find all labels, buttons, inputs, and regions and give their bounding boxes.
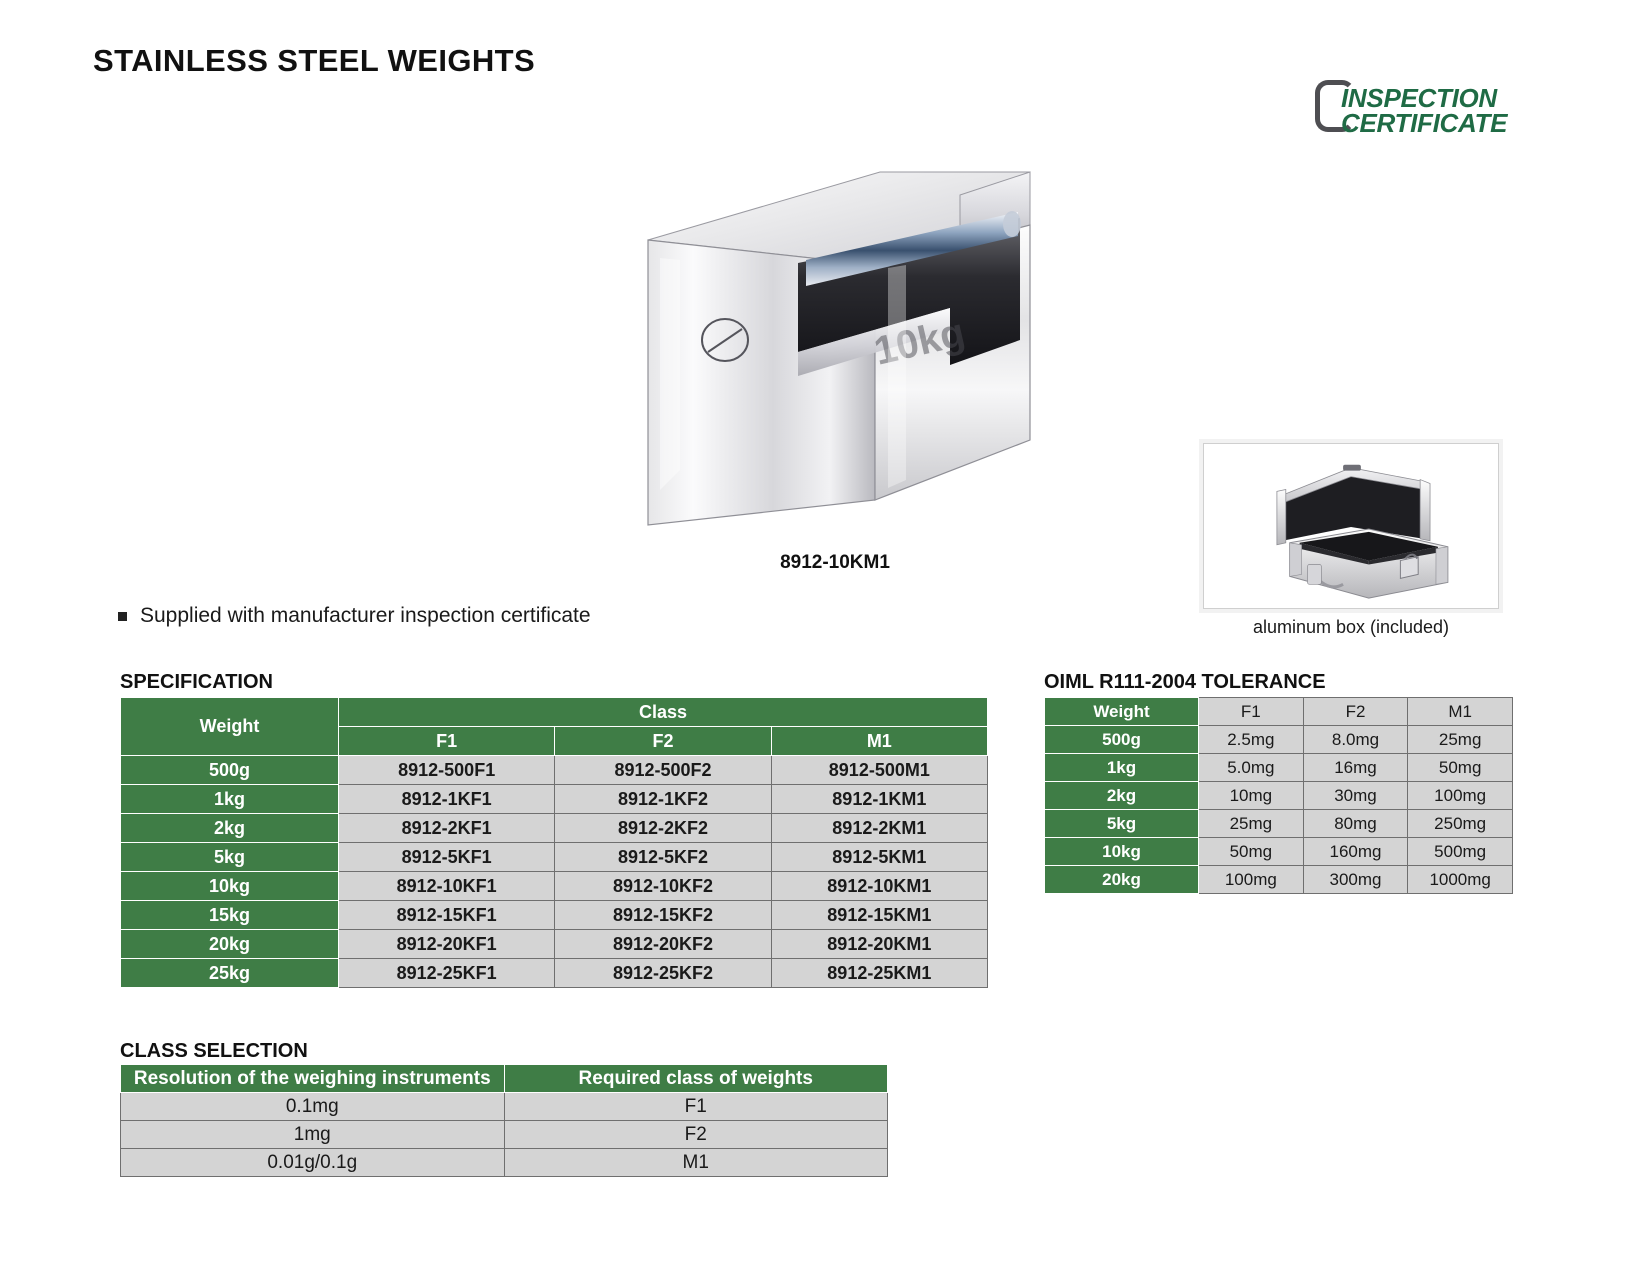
spec-weight: 5kg <box>121 843 339 872</box>
spec-f1: 8912-5KF1 <box>339 843 555 872</box>
spec-header-f2: F2 <box>555 727 771 756</box>
feature-bullet-text: Supplied with manufacturer inspection ce… <box>140 604 591 628</box>
spec-f2: 8912-15KF2 <box>555 901 771 930</box>
table-row: 0.01g/0.1g M1 <box>121 1149 888 1177</box>
bullet-square-icon <box>118 612 127 621</box>
spec-m1: 8912-1KM1 <box>771 785 987 814</box>
tol-weight: 500g <box>1045 726 1199 754</box>
spec-f1: 8912-10KF1 <box>339 872 555 901</box>
spec-header-weight: Weight <box>121 698 339 756</box>
aluminum-box-photo-frame <box>1203 443 1499 609</box>
table-row: 20kg 100mg 300mg 1000mg <box>1045 866 1513 894</box>
spec-f1: 8912-2KF1 <box>339 814 555 843</box>
spec-f2: 8912-500F2 <box>555 756 771 785</box>
spec-weight: 10kg <box>121 872 339 901</box>
spec-m1: 8912-500M1 <box>771 756 987 785</box>
spec-f2: 8912-10KF2 <box>555 872 771 901</box>
spec-header-class: Class <box>339 698 988 727</box>
tol-weight: 20kg <box>1045 866 1199 894</box>
tol-weight: 5kg <box>1045 810 1199 838</box>
class-required: F2 <box>504 1121 888 1149</box>
tol-m1: 100mg <box>1408 782 1513 810</box>
spec-f1: 8912-15KF1 <box>339 901 555 930</box>
table-row: 1kg 8912-1KF1 8912-1KF2 8912-1KM1 <box>121 785 988 814</box>
tol-f2: 30mg <box>1303 782 1408 810</box>
spec-f1: 8912-20KF1 <box>339 930 555 959</box>
tol-header-f2: F2 <box>1303 698 1408 726</box>
feature-bullet-list: Supplied with manufacturer inspection ce… <box>118 604 591 628</box>
tol-f1: 25mg <box>1199 810 1304 838</box>
table-row: 500g 2.5mg 8.0mg 25mg <box>1045 726 1513 754</box>
spec-m1: 8912-5KM1 <box>771 843 987 872</box>
table-row: 10kg 8912-10KF1 8912-10KF2 8912-10KM1 <box>121 872 988 901</box>
tolerance-table: Weight F1 F2 M1 500g 2.5mg 8.0mg 25mg 1k… <box>1044 697 1513 894</box>
tol-m1: 50mg <box>1408 754 1513 782</box>
table-row: 25kg 8912-25KF1 8912-25KF2 8912-25KM1 <box>121 959 988 988</box>
table-row: 500g 8912-500F1 8912-500F2 8912-500M1 <box>121 756 988 785</box>
tol-f2: 160mg <box>1303 838 1408 866</box>
aluminum-box-photo <box>1204 444 1498 608</box>
class-selection-table: Resolution of the weighing instruments R… <box>120 1064 888 1177</box>
spec-f1: 8912-1KF1 <box>339 785 555 814</box>
tol-header-m1: M1 <box>1408 698 1513 726</box>
inspection-certificate-logo: INSPECTION CERTIFICATE <box>1315 78 1505 140</box>
spec-header-m1: M1 <box>771 727 987 756</box>
logo-wordmark: INSPECTION CERTIFICATE <box>1341 86 1507 136</box>
spec-f1: 8912-500F1 <box>339 756 555 785</box>
tol-f2: 8.0mg <box>1303 726 1408 754</box>
spec-weight: 1kg <box>121 785 339 814</box>
spec-m1: 8912-15KM1 <box>771 901 987 930</box>
table-row: 20kg 8912-20KF1 8912-20KF2 8912-20KM1 <box>121 930 988 959</box>
aluminum-box-caption: aluminum box (included) <box>1203 617 1499 638</box>
tol-header-f1: F1 <box>1199 698 1304 726</box>
table-row: 5kg 8912-5KF1 8912-5KF2 8912-5KM1 <box>121 843 988 872</box>
spec-m1: 8912-25KM1 <box>771 959 987 988</box>
product-part-number: 8912-10KM1 <box>620 552 1050 574</box>
class-selection-caption: CLASS SELECTION <box>120 1040 308 1063</box>
spec-weight: 15kg <box>121 901 339 930</box>
class-required: F1 <box>504 1093 888 1121</box>
table-row: 0.1mg F1 <box>121 1093 888 1121</box>
tol-header-weight: Weight <box>1045 698 1199 726</box>
table-row: 1mg F2 <box>121 1121 888 1149</box>
class-resolution: 0.1mg <box>121 1093 505 1121</box>
spec-weight: 20kg <box>121 930 339 959</box>
tol-f1: 5.0mg <box>1199 754 1304 782</box>
tol-weight: 1kg <box>1045 754 1199 782</box>
tolerance-caption: OIML R111-2004 TOLERANCE <box>1044 671 1326 694</box>
tol-weight: 2kg <box>1045 782 1199 810</box>
specification-table: Weight Class F1 F2 M1 500g 8912-500F1 89… <box>120 697 988 988</box>
spec-m1: 8912-10KM1 <box>771 872 987 901</box>
spec-weight: 500g <box>121 756 339 785</box>
tol-weight: 10kg <box>1045 838 1199 866</box>
tol-f2: 80mg <box>1303 810 1408 838</box>
tol-f2: 300mg <box>1303 866 1408 894</box>
tol-m1: 25mg <box>1408 726 1513 754</box>
spec-f2: 8912-20KF2 <box>555 930 771 959</box>
page-title: STAINLESS STEEL WEIGHTS <box>93 43 535 79</box>
spec-f2: 8912-5KF2 <box>555 843 771 872</box>
spec-f2: 8912-2KF2 <box>555 814 771 843</box>
tol-f1: 10mg <box>1199 782 1304 810</box>
tol-f1: 50mg <box>1199 838 1304 866</box>
class-required: M1 <box>504 1149 888 1177</box>
class-resolution: 1mg <box>121 1121 505 1149</box>
spec-weight: 2kg <box>121 814 339 843</box>
tol-f1: 100mg <box>1199 866 1304 894</box>
table-row: 15kg 8912-15KF1 8912-15KF2 8912-15KM1 <box>121 901 988 930</box>
logo-line-2: CERTIFICATE <box>1341 111 1507 136</box>
tol-m1: 250mg <box>1408 810 1513 838</box>
spec-weight: 25kg <box>121 959 339 988</box>
class-header-required: Required class of weights <box>504 1065 888 1093</box>
spec-f2: 8912-1KF2 <box>555 785 771 814</box>
table-row: 2kg 10mg 30mg 100mg <box>1045 782 1513 810</box>
tol-m1: 1000mg <box>1408 866 1513 894</box>
class-resolution: 0.01g/0.1g <box>121 1149 505 1177</box>
spec-m1: 8912-20KM1 <box>771 930 987 959</box>
tol-f1: 2.5mg <box>1199 726 1304 754</box>
table-row: 5kg 25mg 80mg 250mg <box>1045 810 1513 838</box>
specification-caption: SPECIFICATION <box>120 671 273 694</box>
table-row: 2kg 8912-2KF1 8912-2KF2 8912-2KM1 <box>121 814 988 843</box>
tol-f2: 16mg <box>1303 754 1408 782</box>
spec-header-f1: F1 <box>339 727 555 756</box>
table-row: 10kg 50mg 160mg 500mg <box>1045 838 1513 866</box>
class-header-resolution: Resolution of the weighing instruments <box>121 1065 505 1093</box>
spec-f1: 8912-25KF1 <box>339 959 555 988</box>
spec-f2: 8912-25KF2 <box>555 959 771 988</box>
product-photo-block-weight: 10kg <box>620 140 1050 530</box>
spec-m1: 8912-2KM1 <box>771 814 987 843</box>
table-row: 1kg 5.0mg 16mg 50mg <box>1045 754 1513 782</box>
tol-m1: 500mg <box>1408 838 1513 866</box>
